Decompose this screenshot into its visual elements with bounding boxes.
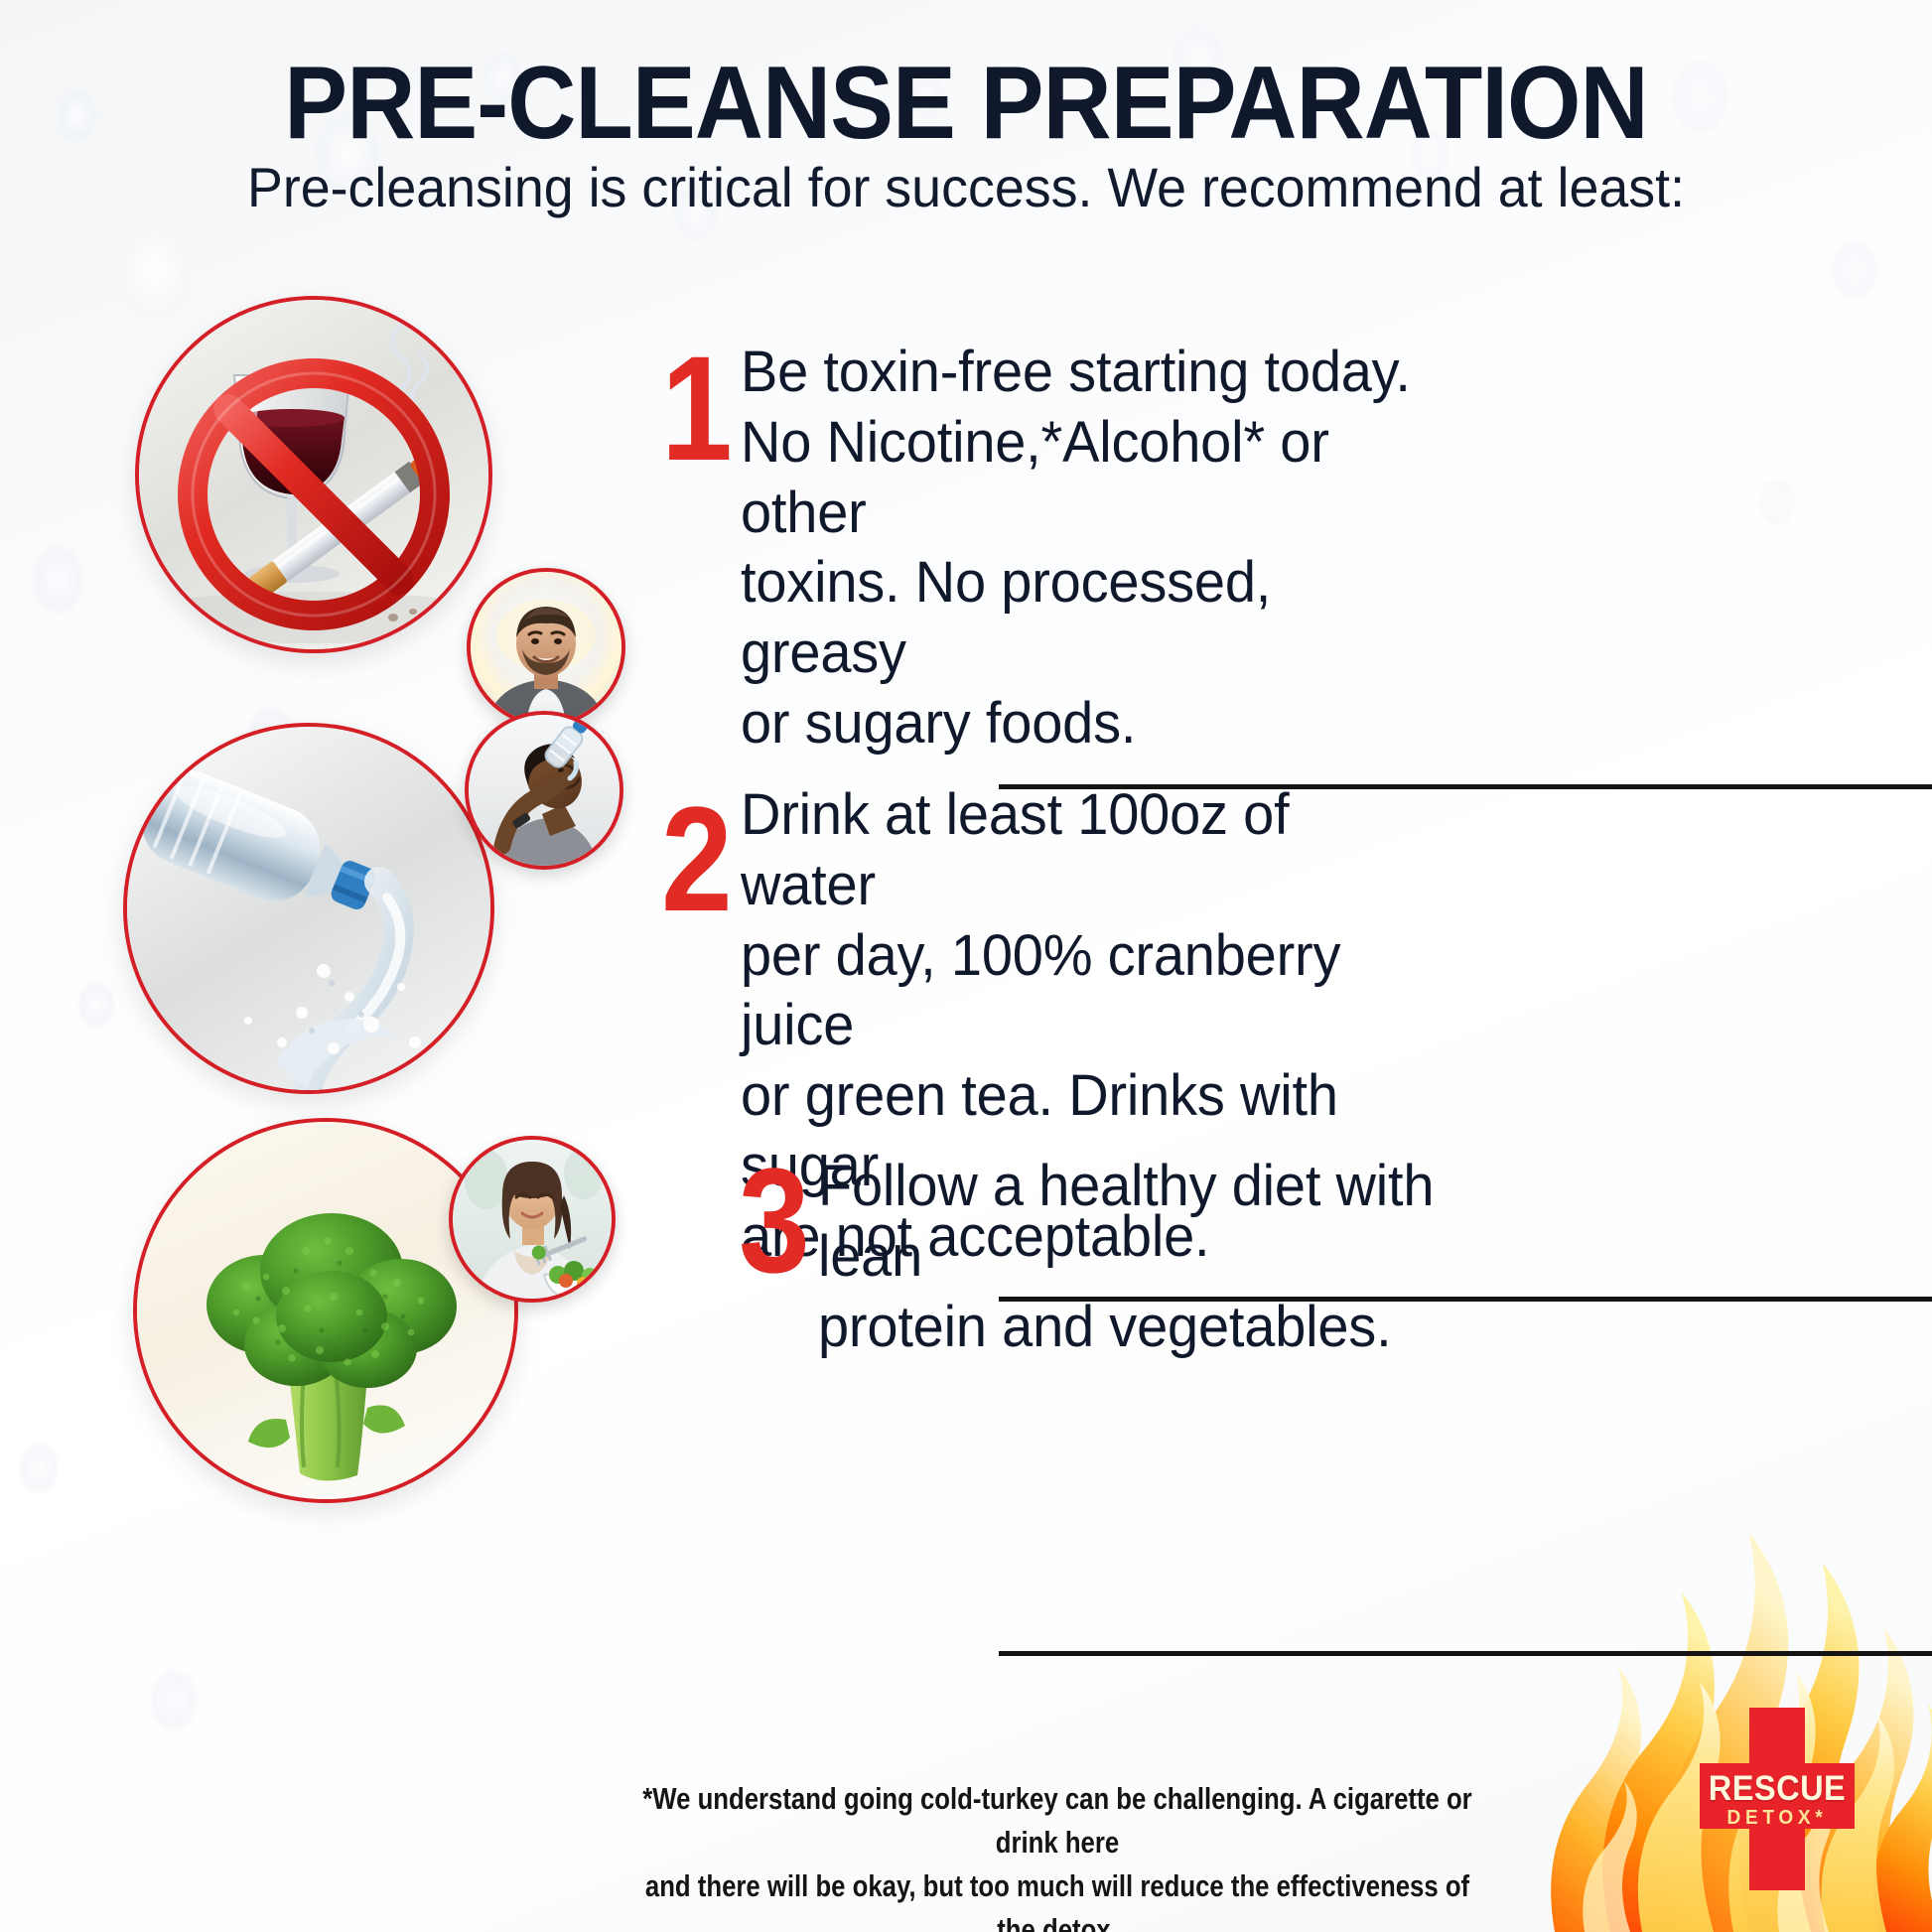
logo-brand-text: RESCUE [1692, 1769, 1862, 1809]
page-subtitle: Pre-cleansing is critical for success. W… [39, 157, 1893, 218]
step-3-text-line-1: Follow a healthy diet with lean [818, 1152, 1508, 1293]
rescue-detox-logo: RESCUE DETOX* [1700, 1708, 1855, 1890]
step-1-number: 1 [661, 334, 733, 483]
woman-eating-salad-image [449, 1136, 616, 1303]
infographic-poster: PRE-CLEANSE PREPARATION Pre-cleansing is… [0, 0, 1932, 1932]
step-1-text-line-1: Be toxin-free starting today. [741, 338, 1412, 408]
step-1-text-line-3: toxins. No processed, greasy [741, 548, 1412, 689]
logo-sub-text: DETOX* [1691, 1807, 1864, 1830]
pouring-water-bottle-image [123, 723, 494, 1094]
step-2-text-line-2: per day, 100% cranberry juice [741, 921, 1431, 1062]
step-row-2: 2 Drink at least 100oz of water per day,… [0, 685, 1932, 1102]
step-2-number: 2 [661, 784, 733, 933]
step-2-text-line-1: Drink at least 100oz of water [741, 780, 1431, 921]
footnote: *We understand going cold-turkey can be … [641, 1777, 1473, 1932]
divider-3 [999, 1651, 1932, 1656]
step-3-number: 3 [739, 1146, 810, 1295]
step-3-text-line-2: protein and vegetables. [818, 1293, 1508, 1363]
footnote-line-2: and there will be okay, but too much wil… [641, 1864, 1473, 1932]
step-3-text: Follow a healthy diet with lean protein … [818, 1152, 1508, 1362]
footnote-line-1: *We understand going cold-turkey can be … [641, 1777, 1473, 1864]
divider-2 [999, 1297, 1932, 1302]
step-1-text-line-2: No Nicotine,*Alcohol* or other [741, 408, 1412, 549]
step-row-1: 1 Be toxin-free starting today. No Nicot… [0, 256, 1932, 673]
smiling-man-portrait-image [467, 568, 625, 727]
person-drinking-water-image [465, 711, 623, 870]
step-row-3: 3 Follow a healthy diet with lean protei… [0, 1110, 1932, 1537]
divider-1 [999, 784, 1932, 789]
page-title: PRE-CLEANSE PREPARATION [77, 52, 1855, 155]
no-smoking-no-alcohol-image [135, 296, 492, 653]
